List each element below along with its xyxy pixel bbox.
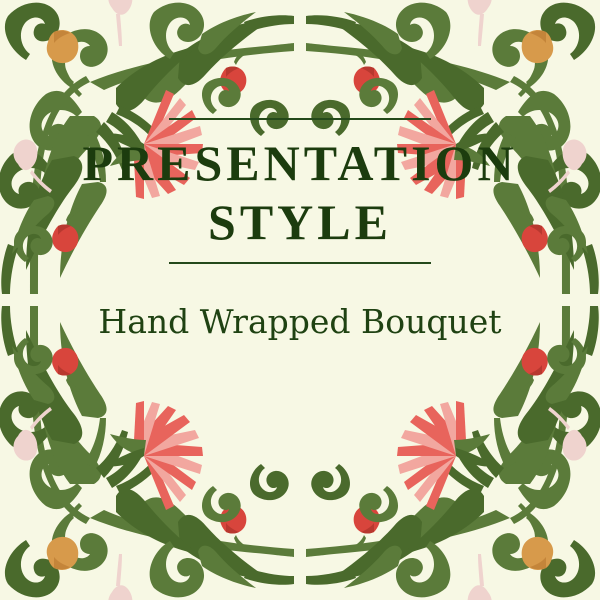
divider-line-top	[169, 118, 431, 120]
floral-corner-ornament-bottom-right	[306, 306, 600, 600]
card-subtitle: Hand Wrapped Bouquet	[0, 264, 600, 342]
card-text-block: PRESENTATION STYLE Hand Wrapped Bouquet	[0, 118, 600, 342]
invitation-card: PRESENTATION STYLE Hand Wrapped Bouquet	[0, 0, 600, 600]
card-title: PRESENTATION STYLE	[0, 134, 600, 252]
floral-corner-ornament-bottom-left	[0, 306, 294, 600]
